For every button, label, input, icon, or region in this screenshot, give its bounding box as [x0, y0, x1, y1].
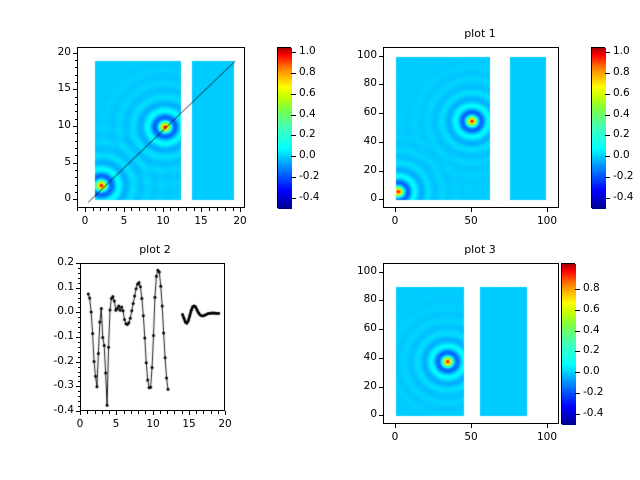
colorbar-top-left [277, 47, 291, 208]
y-minor-tick [78, 327, 81, 328]
colorbar-tick-label: 0.2 [299, 128, 316, 140]
x-minor-tick [167, 411, 168, 414]
y-tick-label: 0 [29, 192, 71, 204]
y-minor-tick [78, 352, 81, 353]
y-minor-tick [78, 376, 81, 377]
y-tick [379, 199, 383, 200]
y-minor-tick [75, 82, 78, 83]
y-minor-tick [75, 155, 78, 156]
y-minor-tick [78, 273, 81, 274]
colorbar-tick [291, 73, 296, 74]
y-minor-tick [78, 357, 81, 358]
y-tick-label: 0 [335, 192, 377, 204]
colorbar-tick [605, 52, 610, 53]
colorbar-tick-label: 1.0 [299, 45, 316, 57]
y-tick-label: -0.1 [32, 330, 74, 342]
colorbar-gradient-bottom-right [562, 264, 576, 425]
x-tick [116, 411, 117, 415]
colorbar-tick-label: 0.4 [583, 324, 600, 336]
x-minor-tick [102, 411, 103, 414]
colorbar-tick [575, 351, 580, 352]
x-minor-tick [218, 411, 219, 414]
y-tick-label: 60 [335, 322, 377, 334]
colorbar-top-right [591, 47, 605, 208]
x-minor-tick [160, 411, 161, 414]
y-tick-label: 20 [335, 164, 377, 176]
colorbar-tick-label: 0.0 [583, 365, 600, 377]
y-minor-tick [75, 148, 78, 149]
y-tick [76, 312, 80, 313]
plot-title-2: plot 2 [60, 243, 250, 256]
y-tick [379, 56, 383, 57]
x-minor-tick [139, 208, 140, 211]
x-tick-label: 100 [527, 215, 567, 227]
y-tick-label: -0.3 [32, 379, 74, 391]
x-tick [471, 208, 472, 212]
colorbar-tick [291, 198, 296, 199]
x-minor-tick [209, 208, 210, 211]
x-tick-label: 0 [375, 215, 415, 227]
y-tick-label: 100 [335, 49, 377, 61]
colorbar-tick [291, 94, 296, 95]
y-minor-tick [75, 141, 78, 142]
colorbar-tick [605, 156, 610, 157]
x-minor-tick [87, 411, 88, 414]
y-tick-label: 10 [29, 119, 71, 131]
colorbar-tick [605, 177, 610, 178]
x-minor-tick [178, 208, 179, 211]
y-tick [379, 415, 383, 416]
heatmap-canvas-top-right [384, 48, 559, 208]
y-minor-tick [75, 192, 78, 193]
matplotlib-figure: 0510152005101520 -0.4-0.20.00.20.40.60.8… [0, 0, 640, 480]
colorbar-tick [605, 73, 610, 74]
x-tick-label: 5 [104, 215, 144, 227]
x-minor-tick [131, 208, 132, 211]
y-minor-tick [78, 283, 81, 284]
x-tick [395, 424, 396, 428]
y-tick [379, 272, 383, 273]
colorbar-tick [291, 156, 296, 157]
y-tick-label: 0.2 [32, 256, 74, 268]
colorbar-tick [575, 310, 580, 311]
y-tick [73, 53, 77, 54]
y-tick-label: 40 [335, 135, 377, 147]
y-tick-label: 15 [29, 82, 71, 94]
x-minor-tick [116, 208, 117, 211]
y-minor-tick [75, 170, 78, 171]
colorbar-tick [605, 115, 610, 116]
colorbar-tick-label: -0.2 [583, 386, 604, 398]
colorbar-tick-label: -0.4 [299, 191, 320, 203]
colorbar-bottom-right [561, 263, 575, 424]
colorbar-tick-label: 0.6 [299, 87, 316, 99]
x-tick [395, 208, 396, 212]
axes-top-right[interactable] [383, 47, 559, 208]
x-tick [153, 411, 154, 415]
x-minor-tick [124, 411, 125, 414]
x-tick-label: 10 [133, 418, 173, 430]
y-tick [379, 142, 383, 143]
y-minor-tick [78, 322, 81, 323]
colorbar-tick [291, 52, 296, 53]
colorbar-tick-label: -0.4 [613, 191, 634, 203]
y-tick-label: 60 [335, 106, 377, 118]
colorbar-tick-label: 0.6 [613, 87, 630, 99]
x-tick [189, 411, 190, 415]
x-tick-label: 50 [451, 431, 491, 443]
x-minor-tick [95, 411, 96, 414]
y-minor-tick [78, 268, 81, 269]
y-minor-tick [78, 342, 81, 343]
x-tick-label: 50 [451, 215, 491, 227]
y-tick-label: -0.4 [32, 404, 74, 416]
x-minor-tick [145, 411, 146, 414]
y-minor-tick [75, 119, 78, 120]
colorbar-tick-label: 0.4 [299, 108, 316, 120]
y-minor-tick [78, 367, 81, 368]
x-tick [124, 208, 125, 212]
y-tick [379, 113, 383, 114]
y-tick [379, 84, 383, 85]
x-minor-tick [100, 208, 101, 211]
x-minor-tick [155, 208, 156, 211]
x-minor-tick [109, 411, 110, 414]
x-tick-label: 0 [65, 215, 105, 227]
colorbar-gradient-top-right [592, 48, 606, 209]
y-tick-label: -0.2 [32, 355, 74, 367]
colorbar-tick-label: 0.2 [613, 128, 630, 140]
x-tick [201, 208, 202, 212]
x-minor-tick [211, 411, 212, 414]
y-minor-tick [78, 372, 81, 373]
y-tick [73, 89, 77, 90]
y-tick-label: 20 [29, 46, 71, 58]
x-tick-label: 20 [220, 215, 260, 227]
x-tick-label: 15 [181, 215, 221, 227]
y-minor-tick [78, 381, 81, 382]
y-tick-label: 0.1 [32, 281, 74, 293]
y-minor-tick [78, 302, 81, 303]
colorbar-tick [575, 372, 580, 373]
y-minor-tick [75, 185, 78, 186]
x-minor-tick [77, 208, 78, 211]
y-minor-tick [75, 133, 78, 134]
y-tick-label: 80 [335, 77, 377, 89]
y-minor-tick [75, 97, 78, 98]
colorbar-tick [605, 198, 610, 199]
y-tick [76, 337, 80, 338]
colorbar-tick-label: 0.8 [613, 66, 630, 78]
x-minor-tick [196, 411, 197, 414]
y-minor-tick [78, 406, 81, 407]
x-minor-tick [174, 411, 175, 414]
y-tick-label: 0.0 [32, 305, 74, 317]
line-plot-canvas [81, 264, 225, 411]
colorbar-gradient-top-left [278, 48, 292, 209]
heatmap-canvas-bottom-right [384, 264, 559, 424]
y-tick [76, 386, 80, 387]
subplot-top-right: plot 1 020406080100050100 -0.4-0.20.00.2… [320, 0, 640, 240]
x-minor-tick [147, 208, 148, 211]
y-tick [379, 387, 383, 388]
plot-title-1: plot 1 [370, 27, 590, 40]
colorbar-tick-label: 0.0 [613, 149, 630, 161]
x-tick-label: 0 [375, 431, 415, 443]
x-tick-label: 15 [169, 418, 209, 430]
colorbar-tick [605, 135, 610, 136]
x-tick [225, 411, 226, 415]
subplot-bottom-right: plot 3 020406080100050100 -0.4-0.20.00.2… [320, 240, 640, 480]
x-tick-label: 0 [60, 418, 100, 430]
y-tick-label: 100 [335, 265, 377, 277]
y-tick-label: 40 [335, 351, 377, 363]
y-minor-tick [78, 347, 81, 348]
plot-title-3: plot 3 [370, 243, 590, 256]
y-minor-tick [75, 111, 78, 112]
y-minor-tick [78, 317, 81, 318]
x-minor-tick [170, 208, 171, 211]
colorbar-tick-label: 0.0 [299, 149, 316, 161]
x-minor-tick [194, 208, 195, 211]
y-tick [76, 263, 80, 264]
y-minor-tick [75, 177, 78, 178]
y-tick-label: 80 [335, 293, 377, 305]
colorbar-tick-label: -0.2 [613, 170, 634, 182]
x-tick-label: 5 [96, 418, 136, 430]
axes-bottom-left[interactable] [80, 263, 225, 411]
colorbar-tick [605, 94, 610, 95]
colorbar-tick-label: -0.2 [299, 170, 320, 182]
x-minor-tick [217, 208, 218, 211]
x-tick [85, 208, 86, 212]
y-minor-tick [78, 391, 81, 392]
y-minor-tick [78, 401, 81, 402]
y-minor-tick [75, 60, 78, 61]
colorbar-tick-label: 0.2 [583, 344, 600, 356]
colorbar-tick-label: 0.8 [583, 282, 600, 294]
y-tick [76, 288, 80, 289]
y-minor-tick [78, 298, 81, 299]
x-minor-tick [225, 208, 226, 211]
x-tick [240, 208, 241, 212]
y-minor-tick [78, 396, 81, 397]
y-minor-tick [75, 104, 78, 105]
colorbar-tick [575, 331, 580, 332]
y-tick-label: 0 [335, 408, 377, 420]
x-tick [80, 411, 81, 415]
x-minor-tick [186, 208, 187, 211]
y-tick-label: 20 [335, 380, 377, 392]
colorbar-tick-label: 0.4 [613, 108, 630, 120]
colorbar-tick-label: -0.4 [583, 407, 604, 419]
axes-bottom-right[interactable] [383, 263, 559, 424]
y-tick-label: 5 [29, 156, 71, 168]
y-minor-tick [78, 278, 81, 279]
x-tick [163, 208, 164, 212]
x-minor-tick [131, 411, 132, 414]
colorbar-tick [291, 177, 296, 178]
y-tick [379, 329, 383, 330]
x-tick [547, 208, 548, 212]
colorbar-tick [291, 115, 296, 116]
x-minor-tick [182, 411, 183, 414]
y-tick [379, 358, 383, 359]
heatmap-canvas-top-left [78, 48, 245, 208]
y-minor-tick [78, 293, 81, 294]
y-minor-tick [75, 75, 78, 76]
x-minor-tick [138, 411, 139, 414]
y-tick [73, 199, 77, 200]
x-minor-tick [93, 208, 94, 211]
colorbar-tick-label: 0.8 [299, 66, 316, 78]
y-minor-tick [78, 307, 81, 308]
y-tick [379, 171, 383, 172]
subplot-top-left: 0510152005101520 -0.4-0.20.00.20.40.60.8… [0, 0, 320, 240]
y-tick [73, 126, 77, 127]
colorbar-tick-label: 1.0 [613, 45, 630, 57]
colorbar-tick [575, 414, 580, 415]
x-minor-tick [233, 208, 234, 211]
subplot-bottom-left: plot 2 -0.4-0.3-0.2-0.10.00.10.205101520 [0, 240, 320, 480]
y-tick [76, 362, 80, 363]
colorbar-tick-label: 0.6 [583, 303, 600, 315]
x-minor-tick [108, 208, 109, 211]
x-minor-tick [203, 411, 204, 414]
y-minor-tick [78, 332, 81, 333]
axes-top-left[interactable] [77, 47, 245, 208]
y-tick [379, 300, 383, 301]
colorbar-tick [575, 393, 580, 394]
colorbar-tick [291, 135, 296, 136]
colorbar-tick [575, 289, 580, 290]
y-minor-tick [75, 67, 78, 68]
x-tick-label: 10 [143, 215, 183, 227]
x-tick [471, 424, 472, 428]
x-tick [547, 424, 548, 428]
x-tick-label: 100 [527, 431, 567, 443]
y-tick [73, 163, 77, 164]
x-tick-label: 20 [205, 418, 245, 430]
